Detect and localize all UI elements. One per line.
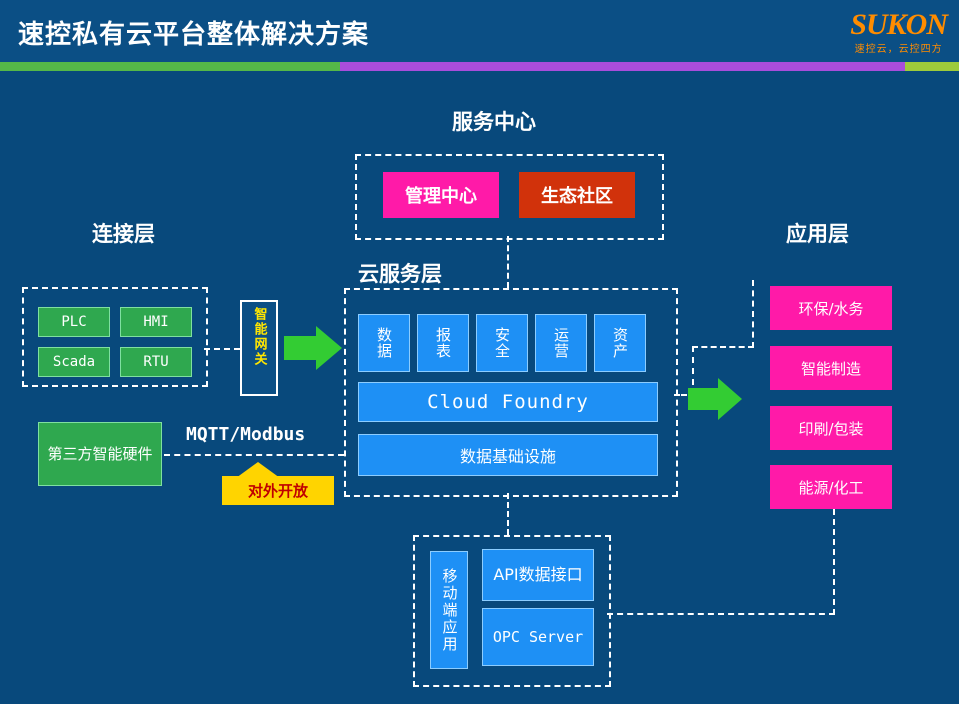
opc-server-box[interactable]: OPC Server (482, 608, 594, 666)
cloud-module-operations[interactable]: 运营 (535, 314, 587, 372)
accent-bar-green-right (905, 62, 959, 71)
app-item-printing-packaging[interactable]: 印刷/包装 (770, 406, 892, 450)
section-title-app-layer: 应用层 (786, 218, 849, 248)
accent-bar-purple-mid (340, 62, 750, 71)
connector-bottom-to-app-vert (833, 509, 835, 615)
service-item-eco-community[interactable]: 生态社区 (519, 172, 635, 218)
slide-root: 速控私有云平台整体解决方案 SUKON 速控云，云控四方 服务中心 连接层 云服… (0, 0, 959, 704)
cloud-module-assets[interactable]: 资产 (594, 314, 646, 372)
app-item-smart-manufacturing[interactable]: 智能制造 (770, 346, 892, 390)
app-item-environment-water[interactable]: 环保/水务 (770, 286, 892, 330)
connector-thirdparty-to-cloud (164, 454, 344, 456)
connector-bottom-to-app (607, 613, 835, 615)
section-title-cloud-layer: 云服务层 (358, 258, 442, 288)
accent-bar-green-left (0, 62, 340, 71)
open-to-public-label: 对外开放 (222, 476, 334, 505)
cloud-platform-cloud-foundry[interactable]: Cloud Foundry (358, 382, 658, 422)
device-hmi[interactable]: HMI (120, 307, 192, 337)
third-party-hardware-label: 第三方智能硬件 (47, 443, 152, 465)
mobile-app-box[interactable]: 移动端应用 (430, 551, 468, 669)
section-title-connect-layer: 连接层 (92, 218, 155, 248)
smart-gateway[interactable]: 智能网关 (240, 300, 278, 396)
connector-service-to-cloud (507, 236, 509, 288)
smart-gateway-label: 智能网关 (251, 307, 268, 367)
logo: SUKON 速控云，云控四方 (850, 8, 947, 55)
cloud-module-security[interactable]: 安全 (476, 314, 528, 372)
logo-tagline: 速控云，云控四方 (850, 40, 947, 55)
device-rtu[interactable]: RTU (120, 347, 192, 377)
device-scada[interactable]: Scada (38, 347, 110, 377)
mobile-app-label: 移动端应用 (440, 568, 459, 653)
cloud-module-data[interactable]: 数据 (358, 314, 410, 372)
service-item-management-center[interactable]: 管理中心 (383, 172, 499, 218)
device-plc[interactable]: PLC (38, 307, 110, 337)
api-interface-box[interactable]: API数据接口 (482, 549, 594, 601)
app-item-energy-chemical[interactable]: 能源/化工 (770, 465, 892, 509)
accent-bar-purple-right (750, 62, 905, 71)
header-bar: 速控私有云平台整体解决方案 SUKON 速控云，云控四方 (0, 0, 959, 62)
cloud-module-report[interactable]: 报表 (417, 314, 469, 372)
logo-wordmark: SUKON (850, 8, 947, 42)
page-title: 速控私有云平台整体解决方案 (18, 14, 369, 51)
arrow-gateway-to-cloud (284, 326, 344, 370)
arrow-cloud-to-app (688, 378, 744, 420)
cloud-data-infrastructure[interactable]: 数据基础设施 (358, 434, 658, 476)
connector-cloud-to-bottom (507, 493, 509, 535)
connector-app-vert-top (752, 280, 754, 348)
connector-devices-to-gateway (204, 348, 240, 350)
protocol-label-mqtt-modbus: MQTT/Modbus (186, 424, 305, 445)
connector-app-top (692, 346, 754, 348)
third-party-hardware[interactable]: 第三方智能硬件 (38, 422, 162, 486)
section-title-service-center: 服务中心 (452, 106, 536, 136)
